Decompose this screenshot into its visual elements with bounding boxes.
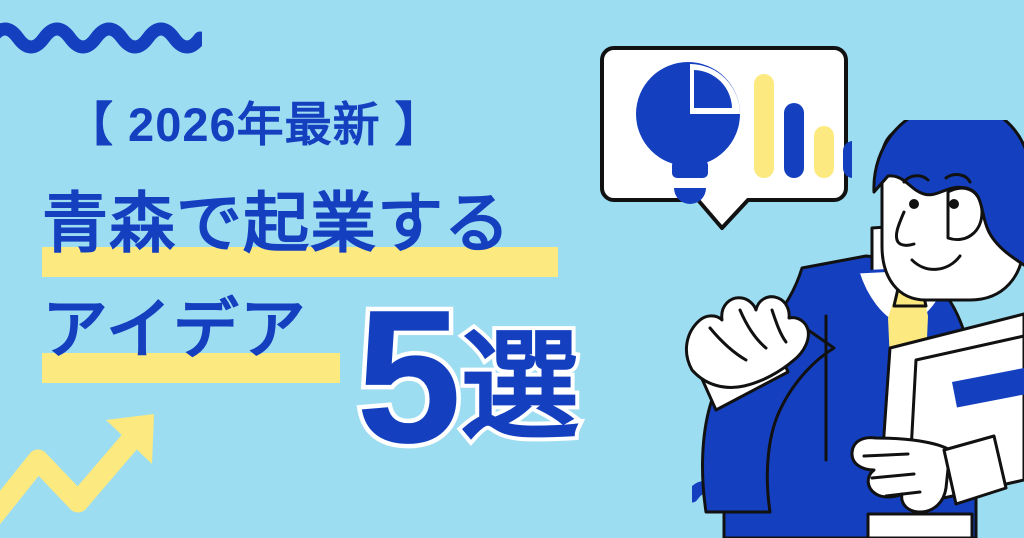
headline-line-2: アイデア (42, 292, 307, 368)
businessman-character (676, 120, 1024, 538)
headline-line-2-text: アイデア (42, 292, 307, 366)
headline-line-1-text: 青森で起業する (42, 186, 511, 260)
promo-banner: 【 2026年最新 】 青森で起業する アイデア 5 選 (0, 0, 1024, 538)
count-number: 5 (356, 296, 458, 459)
headline-line-1: 青森で起業する (42, 186, 511, 262)
eyebrow-label: 【 2026年最新 】 (66, 98, 443, 152)
eyebrow-text: 【 2026年最新 】 (66, 98, 443, 151)
count-unit-kanji: 選 (460, 327, 580, 447)
count-block: 5 選 (356, 296, 580, 459)
